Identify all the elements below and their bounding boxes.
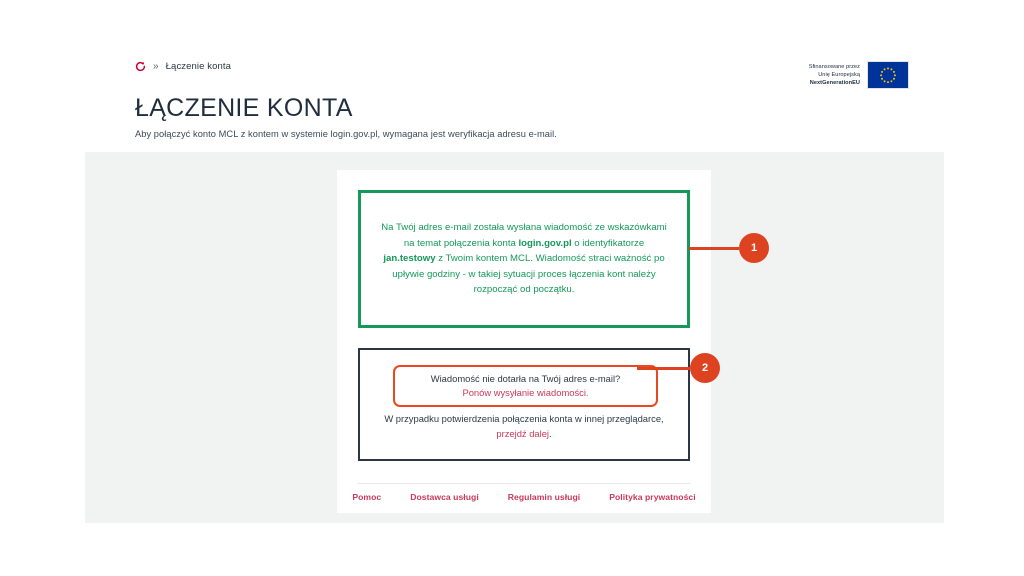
resend-message-box[interactable]: Wiadomość nie dotarła na Twój adres e-ma… — [393, 365, 658, 407]
page-root: » Łączenie konta Sfinansowane przez Unię… — [0, 0, 1024, 576]
breadcrumb: » Łączenie konta — [135, 61, 231, 72]
eu-funding-text: Sfinansowane przez Unię Europejską NextG… — [809, 63, 860, 88]
eu-funding-line-1: Sfinansowane przez — [809, 63, 860, 71]
resend-question: Wiadomość nie dotarła na Twój adres e-ma… — [431, 372, 621, 386]
annotation-badge-1: 1 — [739, 233, 769, 263]
page-title: ŁĄCZENIE KONTA — [135, 93, 353, 123]
annotation-marker-1: 1 — [689, 233, 769, 263]
card-footer-links: Pomoc Dostawca usługi Regulamin usługi P… — [358, 492, 690, 502]
content-area: Na Twój adres e-mail została wysłana wia… — [85, 152, 944, 523]
app-header: » Łączenie konta Sfinansowane przez Unię… — [85, 52, 944, 150]
footer-link-polityka-prywatnosci[interactable]: Polityka prywatności — [609, 492, 696, 502]
eu-funding-logo: Sfinansowane przez Unię Europejską NextG… — [809, 61, 909, 89]
annotation-badge-2: 2 — [690, 353, 720, 383]
green-info-box: Na Twój adres e-mail została wysłana wia… — [358, 190, 690, 328]
resend-link[interactable]: Ponów wysyłanie wiadomości. — [462, 386, 588, 400]
footer-link-pomoc[interactable]: Pomoc — [352, 492, 381, 502]
eu-funding-line-3: NextGenerationEU — [809, 79, 860, 87]
breadcrumb-separator: » — [152, 62, 160, 72]
eu-flag-icon — [867, 61, 909, 89]
footer-divider — [358, 483, 690, 484]
other-browser-text: W przypadku potwierdzenia połączenia kon… — [378, 412, 670, 441]
page-subtitle: Aby połączyć konto MCL z kontem w system… — [135, 128, 557, 141]
red-circular-arrow-icon[interactable] — [135, 61, 146, 72]
green-info-text: Na Twój adres e-mail została wysłana wia… — [361, 220, 687, 298]
content-card: Na Twój adres e-mail została wysłana wia… — [337, 170, 711, 513]
footer-link-dostawca-uslugi[interactable]: Dostawca usługi — [410, 492, 479, 502]
eu-funding-line-2: Unię Europejską — [809, 71, 860, 79]
footer-link-regulamin-uslugi[interactable]: Regulamin usługi — [508, 492, 580, 502]
annotation-line-1 — [689, 247, 739, 250]
breadcrumb-label[interactable]: Łączenie konta — [166, 61, 231, 72]
other-browser-link[interactable]: przejdź dalej — [496, 428, 549, 439]
annotation-marker-2: 2 — [637, 353, 720, 383]
annotation-line-2 — [637, 367, 690, 370]
